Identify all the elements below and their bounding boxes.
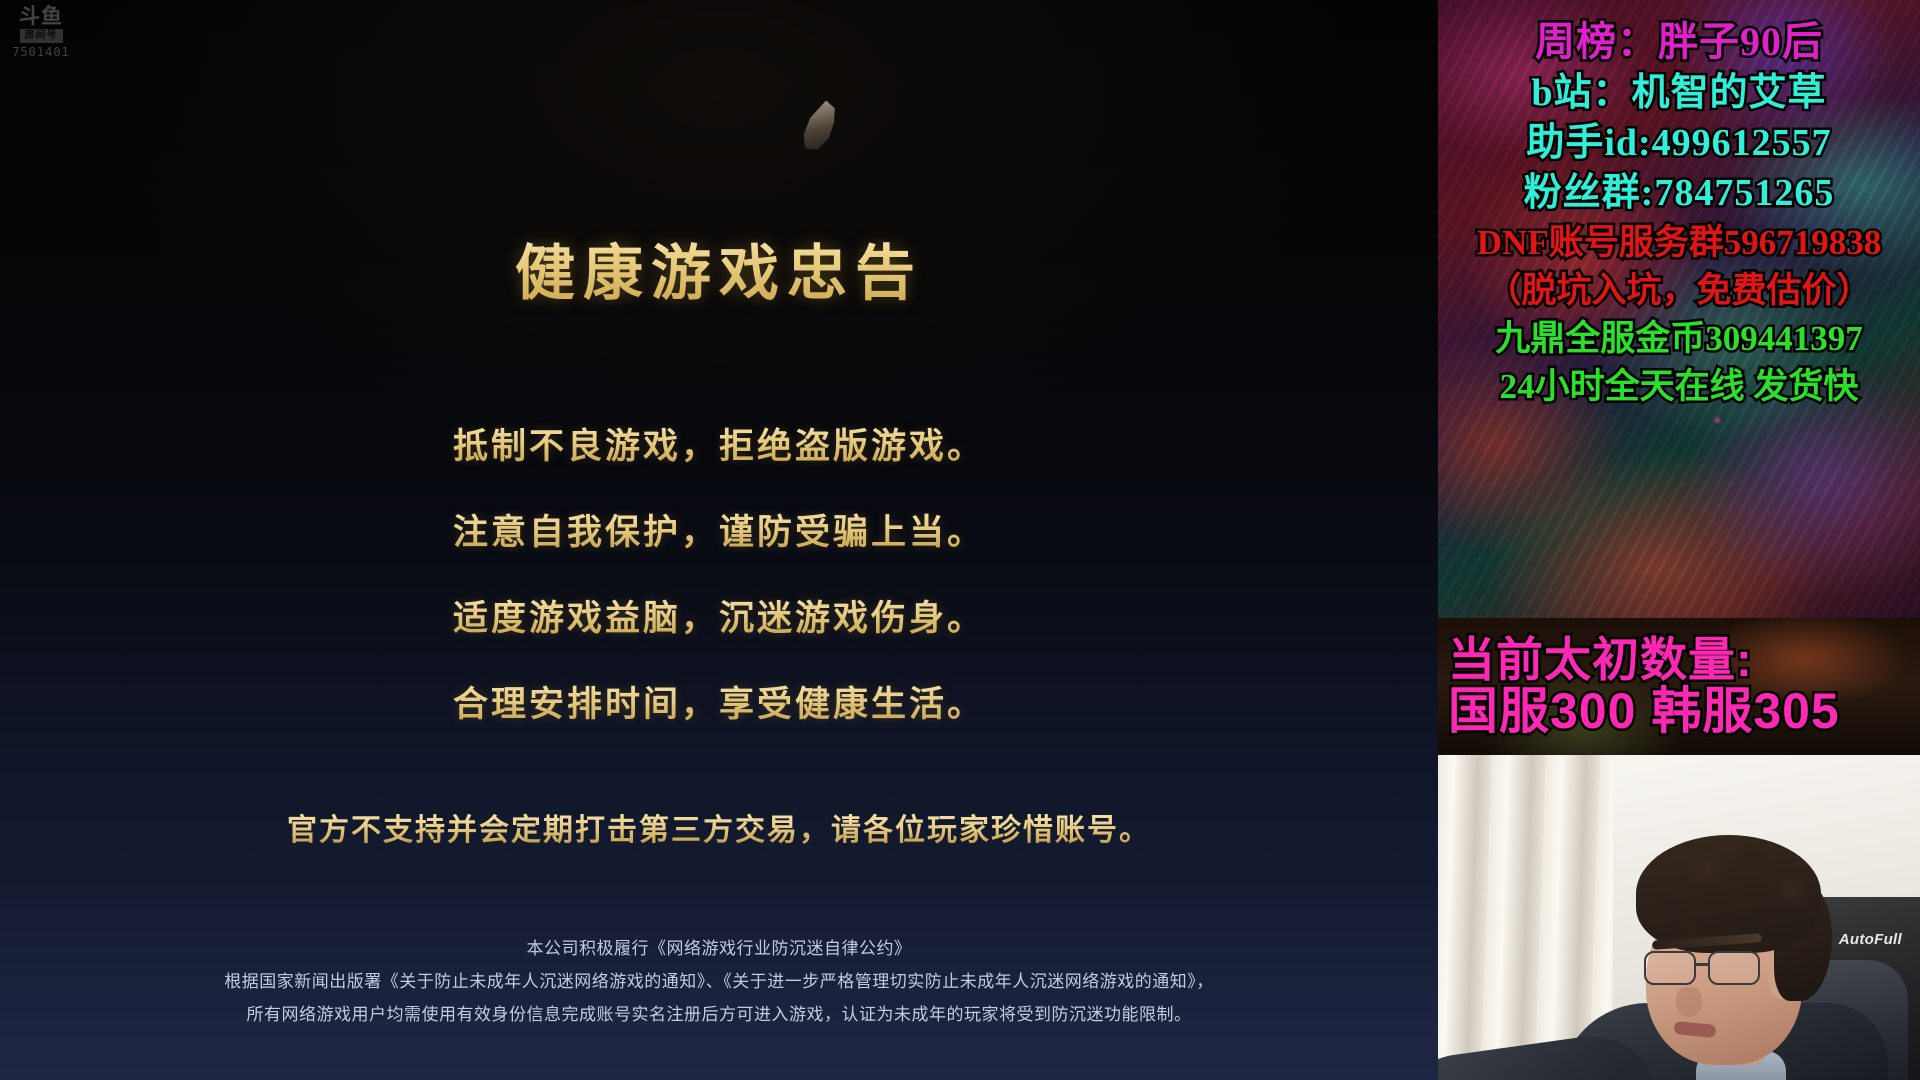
chair-brand-label: AutoFull [1839,931,1902,948]
advice-line: 适度游戏益脑，沉迷游戏伤身。 [0,590,1438,641]
promo-line-24h-service: 24小时全天在线 发货快 [1444,369,1914,404]
advice-line: 注意自我保护，谨防受骗上当。 [0,504,1438,555]
promo-line-fan-group: 粉丝群:784751265 [1444,174,1914,212]
advice-line: 合理安排时间，享受健康生活。 [0,676,1438,727]
douyu-watermark: 斗鱼 房间号 7501401 [10,6,72,59]
spaceship-sprite-icon [786,92,853,160]
room-number-value: 7501401 [12,45,70,59]
promo-text-overlay: 周榜：胖子90后 b站：机智的艾草 助手id:499612557 粉丝群:784… [1438,0,1920,508]
promo-line-bilibili: b站：机智的艾草 [1444,74,1914,112]
legal-line: 根据国家新闻出版署《关于防止未成年人沉迷网络游戏的通知》、《关于进一步严格管理切… [0,965,1438,998]
taichu-count-label: 当前太初数量: [1448,635,1920,685]
glasses-lens-right [1708,951,1760,985]
streamer-webcam-feed[interactable]: AutoFull [1438,755,1920,1080]
glasses-icon [1644,951,1768,987]
douyu-logo-icon: 斗鱼 [19,6,63,27]
game-video-area[interactable]: 斗鱼 房间号 7501401 健康游戏忠告 抵制不良游戏，拒绝盗版游戏。 注意自… [0,0,1438,1080]
legal-line: 所有网络游戏用户均需使用有效身份信息完成账号实名注册后方可进入游戏，认证为未成年… [0,998,1438,1031]
stream-screen: 斗鱼 房间号 7501401 健康游戏忠告 抵制不良游戏，拒绝盗版游戏。 注意自… [0,0,1920,1080]
legal-line: 本公司积极履行《网络游戏行业防沉迷自律公约》 [0,932,1438,965]
promo-line-gold-qq: 九鼎全服金币309441397 [1444,321,1914,356]
promo-line-weekly-rank: 周榜：胖子90后 [1444,22,1914,62]
side-panel: 周榜：胖子90后 b站：机智的艾草 助手id:499612557 粉丝群:784… [1438,0,1920,1080]
taichu-count-banner: 当前太初数量: 国服300 韩服305 [1438,618,1920,755]
promo-line-assistant-id: 助手id:499612557 [1444,124,1914,162]
third-party-trade-warning: 官方不支持并会定期打击第三方交易，请各位玩家珍惜账号。 [0,805,1438,849]
glasses-lens-left [1644,951,1696,985]
advice-line: 抵制不良游戏，拒绝盗版游戏。 [0,418,1438,469]
taichu-count-value: 国服300 韩服305 [1448,685,1920,738]
streamer-nose [1676,987,1702,1017]
page-title: 健康游戏忠告 [0,225,1438,312]
legal-disclaimer-block: 本公司积极履行《网络游戏行业防沉迷自律公约》 根据国家新闻出版署《关于防止未成年… [0,932,1438,1031]
room-number-label: 房间号 [20,29,63,43]
promo-line-dnf-service-group: DNF账号服务群596719838 [1444,225,1914,260]
promo-line-free-appraisal: （脱坑入坑，免费估价） [1444,273,1914,308]
